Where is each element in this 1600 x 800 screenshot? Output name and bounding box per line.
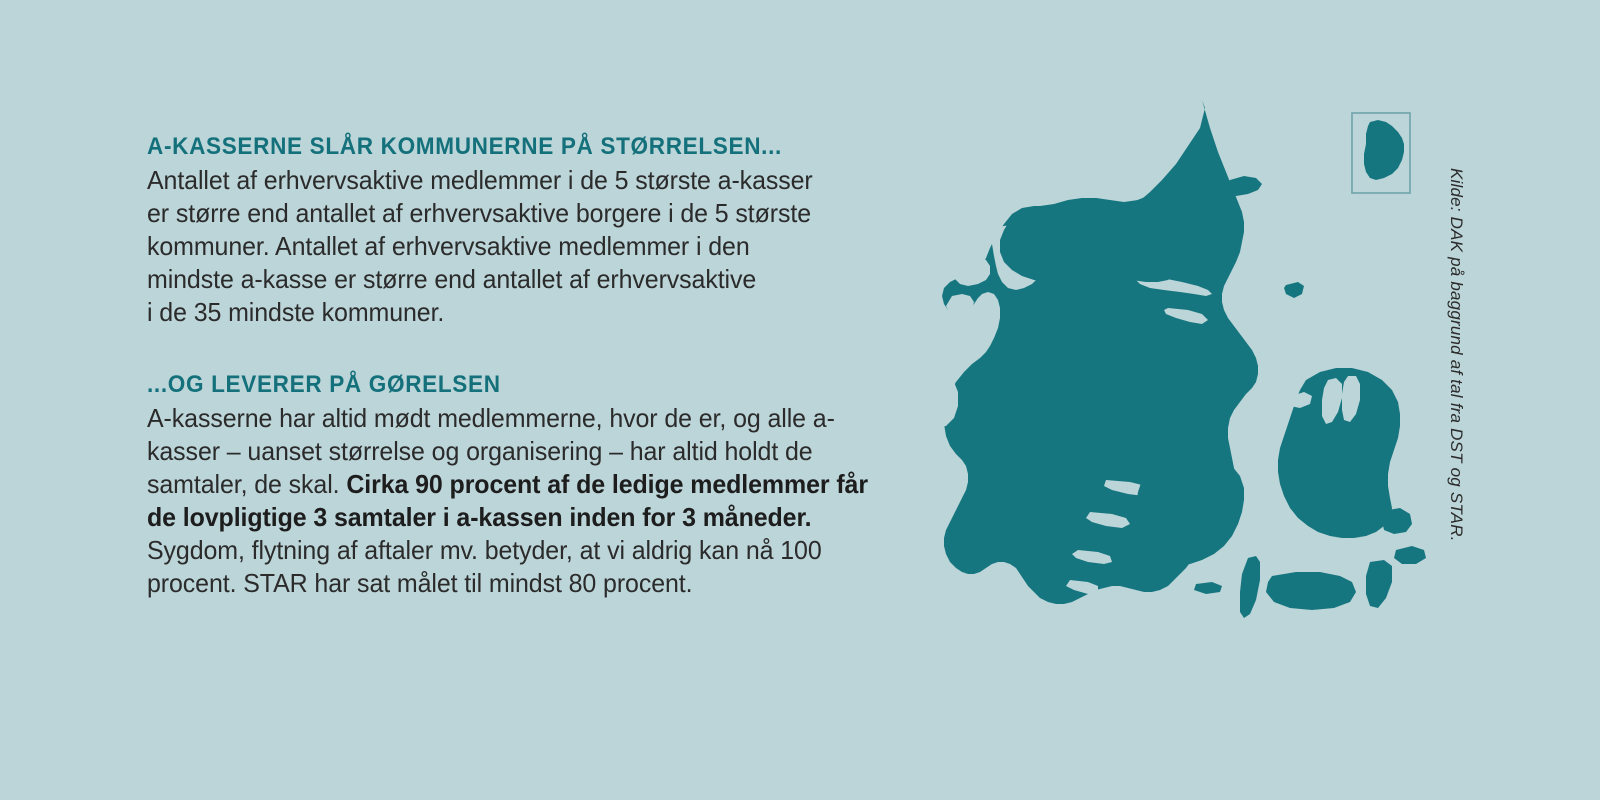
heading-og-leverer-paa-goerelsen: ...OG LEVERER PÅ GØRELSEN <box>147 372 861 397</box>
laesoe-island <box>1226 176 1262 196</box>
vendsyssel-thy <box>1000 180 1182 282</box>
text-block-size: A-KASSERNE SLÅR KOMMUNERNE PÅ STØRRELSEN… <box>147 134 907 329</box>
flensborg-fjord <box>1048 604 1096 620</box>
falster-island <box>1366 560 1392 608</box>
body-line: mindste a-kasse er større end antallet a… <box>147 264 756 294</box>
body-paragraph-size: Antallet af erhvervsaktive medlemmer i d… <box>147 164 877 329</box>
aeroe-island <box>1194 582 1222 594</box>
anholt-island <box>1284 282 1304 298</box>
text-block-delivery: ...OG LEVERER PÅ GØRELSEN A-kasserne har… <box>147 372 907 600</box>
map-land-shapes <box>924 92 1426 620</box>
body-line: er større end antallet af erhvervsaktive… <box>147 198 811 228</box>
denmark-map <box>900 80 1460 700</box>
body-line: Antallet af erhvervsaktive medlemmer i d… <box>147 165 813 195</box>
moen-island <box>1394 546 1426 564</box>
langeland-island <box>1240 556 1260 618</box>
body-paragraph-delivery: A-kasserne har altid mødt medlemmerne, h… <box>147 402 877 600</box>
funen-island <box>1136 448 1244 566</box>
body-line: i de 35 mindste kommuner. <box>147 297 444 327</box>
infographic-canvas: A-KASSERNE SLÅR KOMMUNERNE PÅ STØRRELSEN… <box>0 0 1600 800</box>
bornholm-island <box>1364 120 1404 180</box>
heading-a-kasserne-slaar-kommunerne: A-KASSERNE SLÅR KOMMUNERNE PÅ STØRRELSEN… <box>147 134 861 159</box>
body-line: kommuner. Antallet af erhvervsaktive med… <box>147 231 750 261</box>
lolland-island <box>1266 572 1356 610</box>
body-text-outro: Sygdom, flytning af aftaler mv. betyder,… <box>147 535 822 598</box>
